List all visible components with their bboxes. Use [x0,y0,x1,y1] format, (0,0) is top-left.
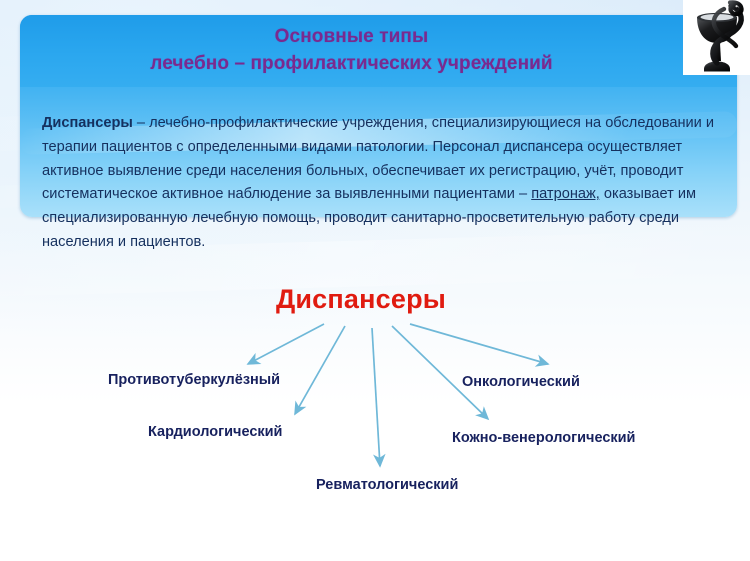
bowl-of-hygieia-icon [683,0,750,75]
diagram-node-tuber: Противотуберкулёзный [108,372,280,388]
slide-canvas: Основные типы лечебно – профилактических… [0,0,750,561]
arrow-to-skin [392,326,488,419]
title-line-2: лечебно – профилактических учреждений [150,51,552,78]
page-title: Основные типы лечебно – профилактических… [150,24,552,78]
body-paragraph: Диспансеры – лечебно-профилактические уч… [42,112,718,255]
paragraph-lead-term: Диспансеры [42,115,133,131]
title-line-1: Основные типы [275,26,429,47]
title-band: Основные типы лечебно – профилактических… [20,15,737,87]
dispensary-types-diagram: Диспансеры Противотуберкулёзный Кардиоло… [0,284,750,524]
paragraph-underlined-term: патронаж, [531,186,600,202]
diagram-center-title: Диспансеры [0,284,750,315]
diagram-node-rheum: Ревматологический [316,477,458,493]
arrow-to-cardio [295,326,345,414]
diagram-center-title-text: Диспансеры [276,284,446,314]
diagram-node-cardio: Кардиологический [148,424,282,440]
arrow-to-tuber [248,324,324,364]
arrow-to-onco [410,324,548,364]
diagram-node-onco: Онкологический [462,374,580,390]
arrow-to-rheum [372,328,380,466]
diagram-node-skin: Кожно-венерологический [452,430,635,446]
